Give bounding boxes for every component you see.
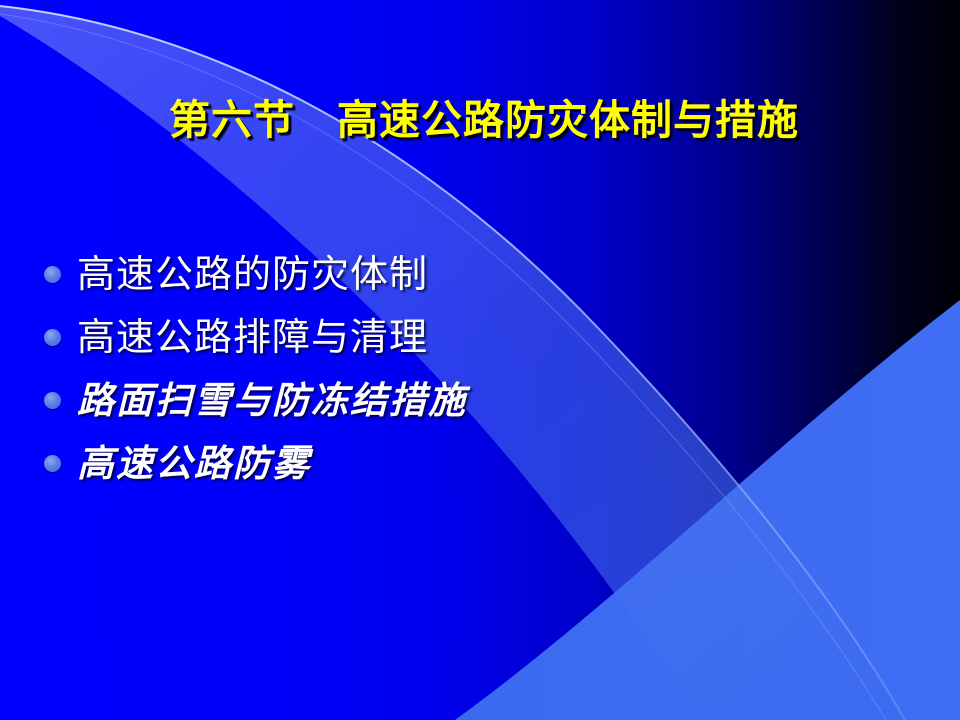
list-item[interactable]: 高速公路的防灾体制	[44, 243, 744, 306]
list-item-label: 高速公路的防灾体制	[77, 256, 428, 294]
list-item-label: 高速公路防雾	[77, 445, 311, 482]
bullet-dot-icon	[44, 329, 61, 346]
bullet-dot-icon	[44, 455, 61, 472]
list-item[interactable]: 高速公路排障与清理	[44, 306, 744, 369]
slide-title: 第六节 高速公路防灾体制与措施	[0, 100, 960, 141]
list-item-label: 高速公路排障与清理	[77, 319, 428, 357]
list-item[interactable]: 高速公路防雾	[44, 432, 744, 495]
list-item-label: 路面扫雪与防冻结措施	[77, 382, 467, 419]
bullet-dot-icon	[44, 266, 61, 283]
list-item[interactable]: 路面扫雪与防冻结措施	[44, 369, 744, 432]
presentation-slide: 第六节 高速公路防灾体制与措施 高速公路的防灾体制 高速公路排障与清理 路面扫雪…	[0, 0, 960, 720]
bullet-list: 高速公路的防灾体制 高速公路排障与清理 路面扫雪与防冻结措施 高速公路防雾	[44, 243, 744, 495]
bullet-dot-icon	[44, 392, 61, 409]
